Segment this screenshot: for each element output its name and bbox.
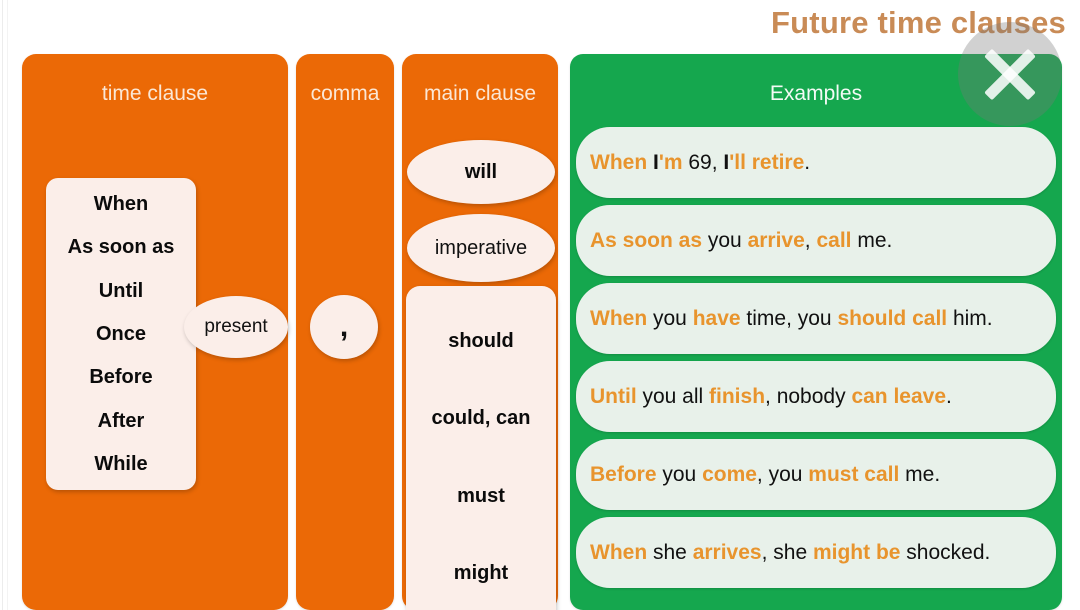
list-item: When [94,192,148,216]
example-text: When you have time, you should call him. [590,306,993,332]
example-card: When she arrives, she might be shocked. [576,517,1056,588]
comma-symbol: , [340,295,348,347]
page-edge-artifact-left [2,0,3,610]
future-time-clauses-infographic: Future time clauses time clause When As … [0,0,1080,610]
list-item: Once [96,322,146,346]
column-time-clause: time clause When As soon as Until Once B… [22,54,288,610]
list-item: could, can [432,406,531,430]
example-text: When she arrives, she might be shocked. [590,540,990,566]
time-clause-word-list: When As soon as Until Once Before After … [46,178,196,490]
main-clause-modal-list: should could, can must might [406,286,556,610]
column-main-clause: main clause will imperative should could… [402,54,558,610]
main-clause-pill-will: will [407,140,555,204]
list-item: must [457,484,505,508]
example-card: Until you all finish, nobody can leave. [576,361,1056,432]
example-card: Before you come, you must call me. [576,439,1056,510]
example-text: Before you come, you must call me. [590,462,940,488]
list-item: As soon as [68,235,175,259]
list-item: should [448,329,514,353]
example-card: As soon as you arrive, call me. [576,205,1056,276]
main-clause-pill-imperative: imperative [407,214,555,282]
examples-list: When I'm 69, I'll retire.As soon as you … [576,127,1056,608]
example-text: When I'm 69, I'll retire. [590,150,810,176]
page-edge-artifact-left-2 [7,0,8,610]
list-item: While [94,452,147,476]
example-card: When I'm 69, I'll retire. [576,127,1056,198]
example-text: As soon as you arrive, call me. [590,228,892,254]
list-item: After [98,409,145,433]
column-header-main-clause: main clause [402,80,558,108]
column-comma: comma , [296,54,394,610]
list-item: Until [99,279,143,303]
column-header-time-clause: time clause [22,80,288,108]
panel-examples: Examples When I'm 69, I'll retire.As soo… [570,54,1062,610]
present-tense-pill: present [184,296,288,358]
list-item: might [454,561,508,585]
example-card: When you have time, you should call him. [576,283,1056,354]
example-text: Until you all finish, nobody can leave. [590,384,952,410]
close-icon [979,43,1041,105]
comma-symbol-circle: , [310,295,378,359]
close-button[interactable] [958,22,1062,126]
column-header-comma: comma [296,80,394,108]
list-item: Before [89,365,152,389]
